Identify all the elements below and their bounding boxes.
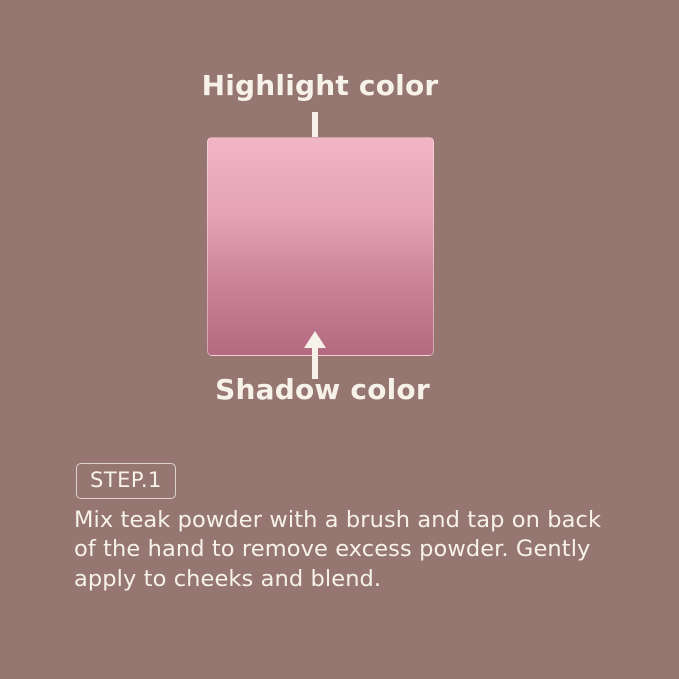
shadow-color-label: Shadow color [0,376,645,404]
instruction-card: Highlight color Shadow color STEP.1 Mix … [0,0,679,679]
instruction-line: apply to cheeks and blend. [74,565,634,594]
step-instruction-text: Mix teak powder with a brush and tap on … [74,506,634,594]
instruction-line: Mix teak powder with a brush and tap on … [74,506,634,535]
instruction-line: of the hand to remove excess powder. Gen… [74,535,634,564]
color-gradient-swatch [207,137,434,356]
step-badge: STEP.1 [76,463,176,499]
highlight-color-label: Highlight color [0,72,640,100]
arrow-up-icon [302,327,328,379]
